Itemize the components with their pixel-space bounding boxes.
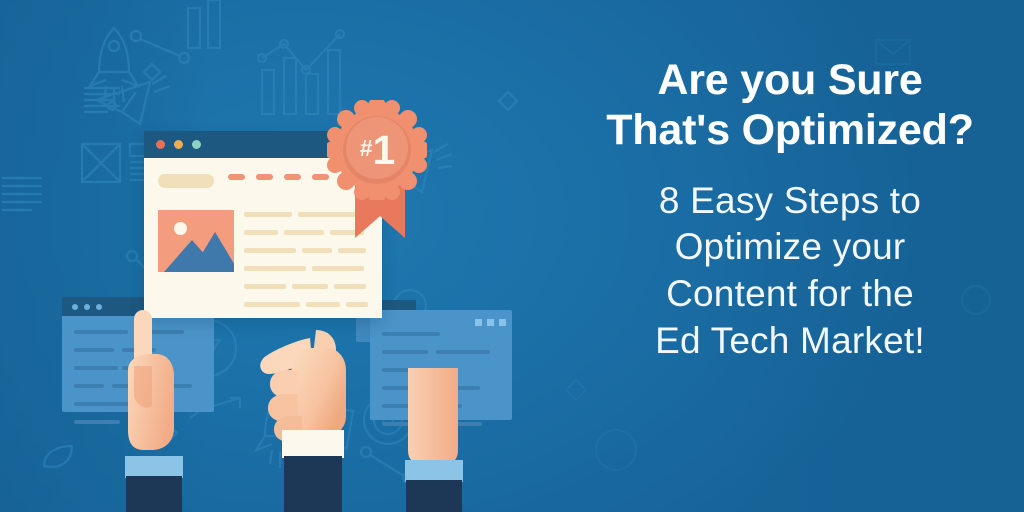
subheadline-line-2: Optimize your [655,224,925,271]
banner: #1 [0,0,1024,512]
hand-center-pointing [272,330,354,512]
nav-dash-1[interactable] [228,174,245,180]
left-card-dot-2 [84,304,90,310]
subheadline-line-4: Ed Tech Market! [655,318,925,365]
subheadline: 8 Easy Steps to Optimize your Content fo… [655,178,925,364]
hand-left-cuff [125,456,183,478]
badge-rank-text: #1 [327,100,427,200]
badge-hash: # [360,137,372,160]
badge-number: 1 [372,130,394,171]
browser-nav-dashes [228,174,329,180]
browser-logo-pill [158,174,214,188]
subheadline-line-1: 8 Easy Steps to [655,178,925,225]
hand-right [398,368,470,512]
headline: Are you Sure That's Optimized? [606,56,974,156]
nav-dash-2[interactable] [256,174,273,180]
browser-image-placeholder [158,210,234,272]
rank-badge: #1 [327,100,433,242]
subheadline-line-3: Content for the [655,271,925,318]
hand-center-sleeve [284,456,342,512]
headline-line-1: Are you Sure [657,56,922,104]
right-card-dot-1 [475,319,482,326]
left-card-dot-3 [96,304,102,310]
browser-minimize-dot[interactable] [174,140,183,149]
hand-center-cuff [282,430,344,458]
nav-dash-3[interactable] [284,174,301,180]
placeholder-mountain-2 [191,232,234,272]
hand-left-sleeve [126,476,182,512]
placeholder-sun-icon [174,222,187,235]
hand-right-sleeve [406,480,462,512]
hand-left-shape [112,310,192,464]
browser-close-dot[interactable] [156,140,165,149]
text-column: Are you Sure That's Optimized? 8 Easy St… [556,0,1024,512]
left-card-dot-1 [72,304,78,310]
hand-left-pointing [118,358,190,512]
illustration: #1 [0,0,560,512]
headline-line-2: That's Optimized? [606,106,974,156]
right-card-dot-3 [499,319,506,326]
hand-right-cuff [405,460,463,482]
browser-maximize-dot[interactable] [192,140,201,149]
right-card-dot-2 [487,319,494,326]
